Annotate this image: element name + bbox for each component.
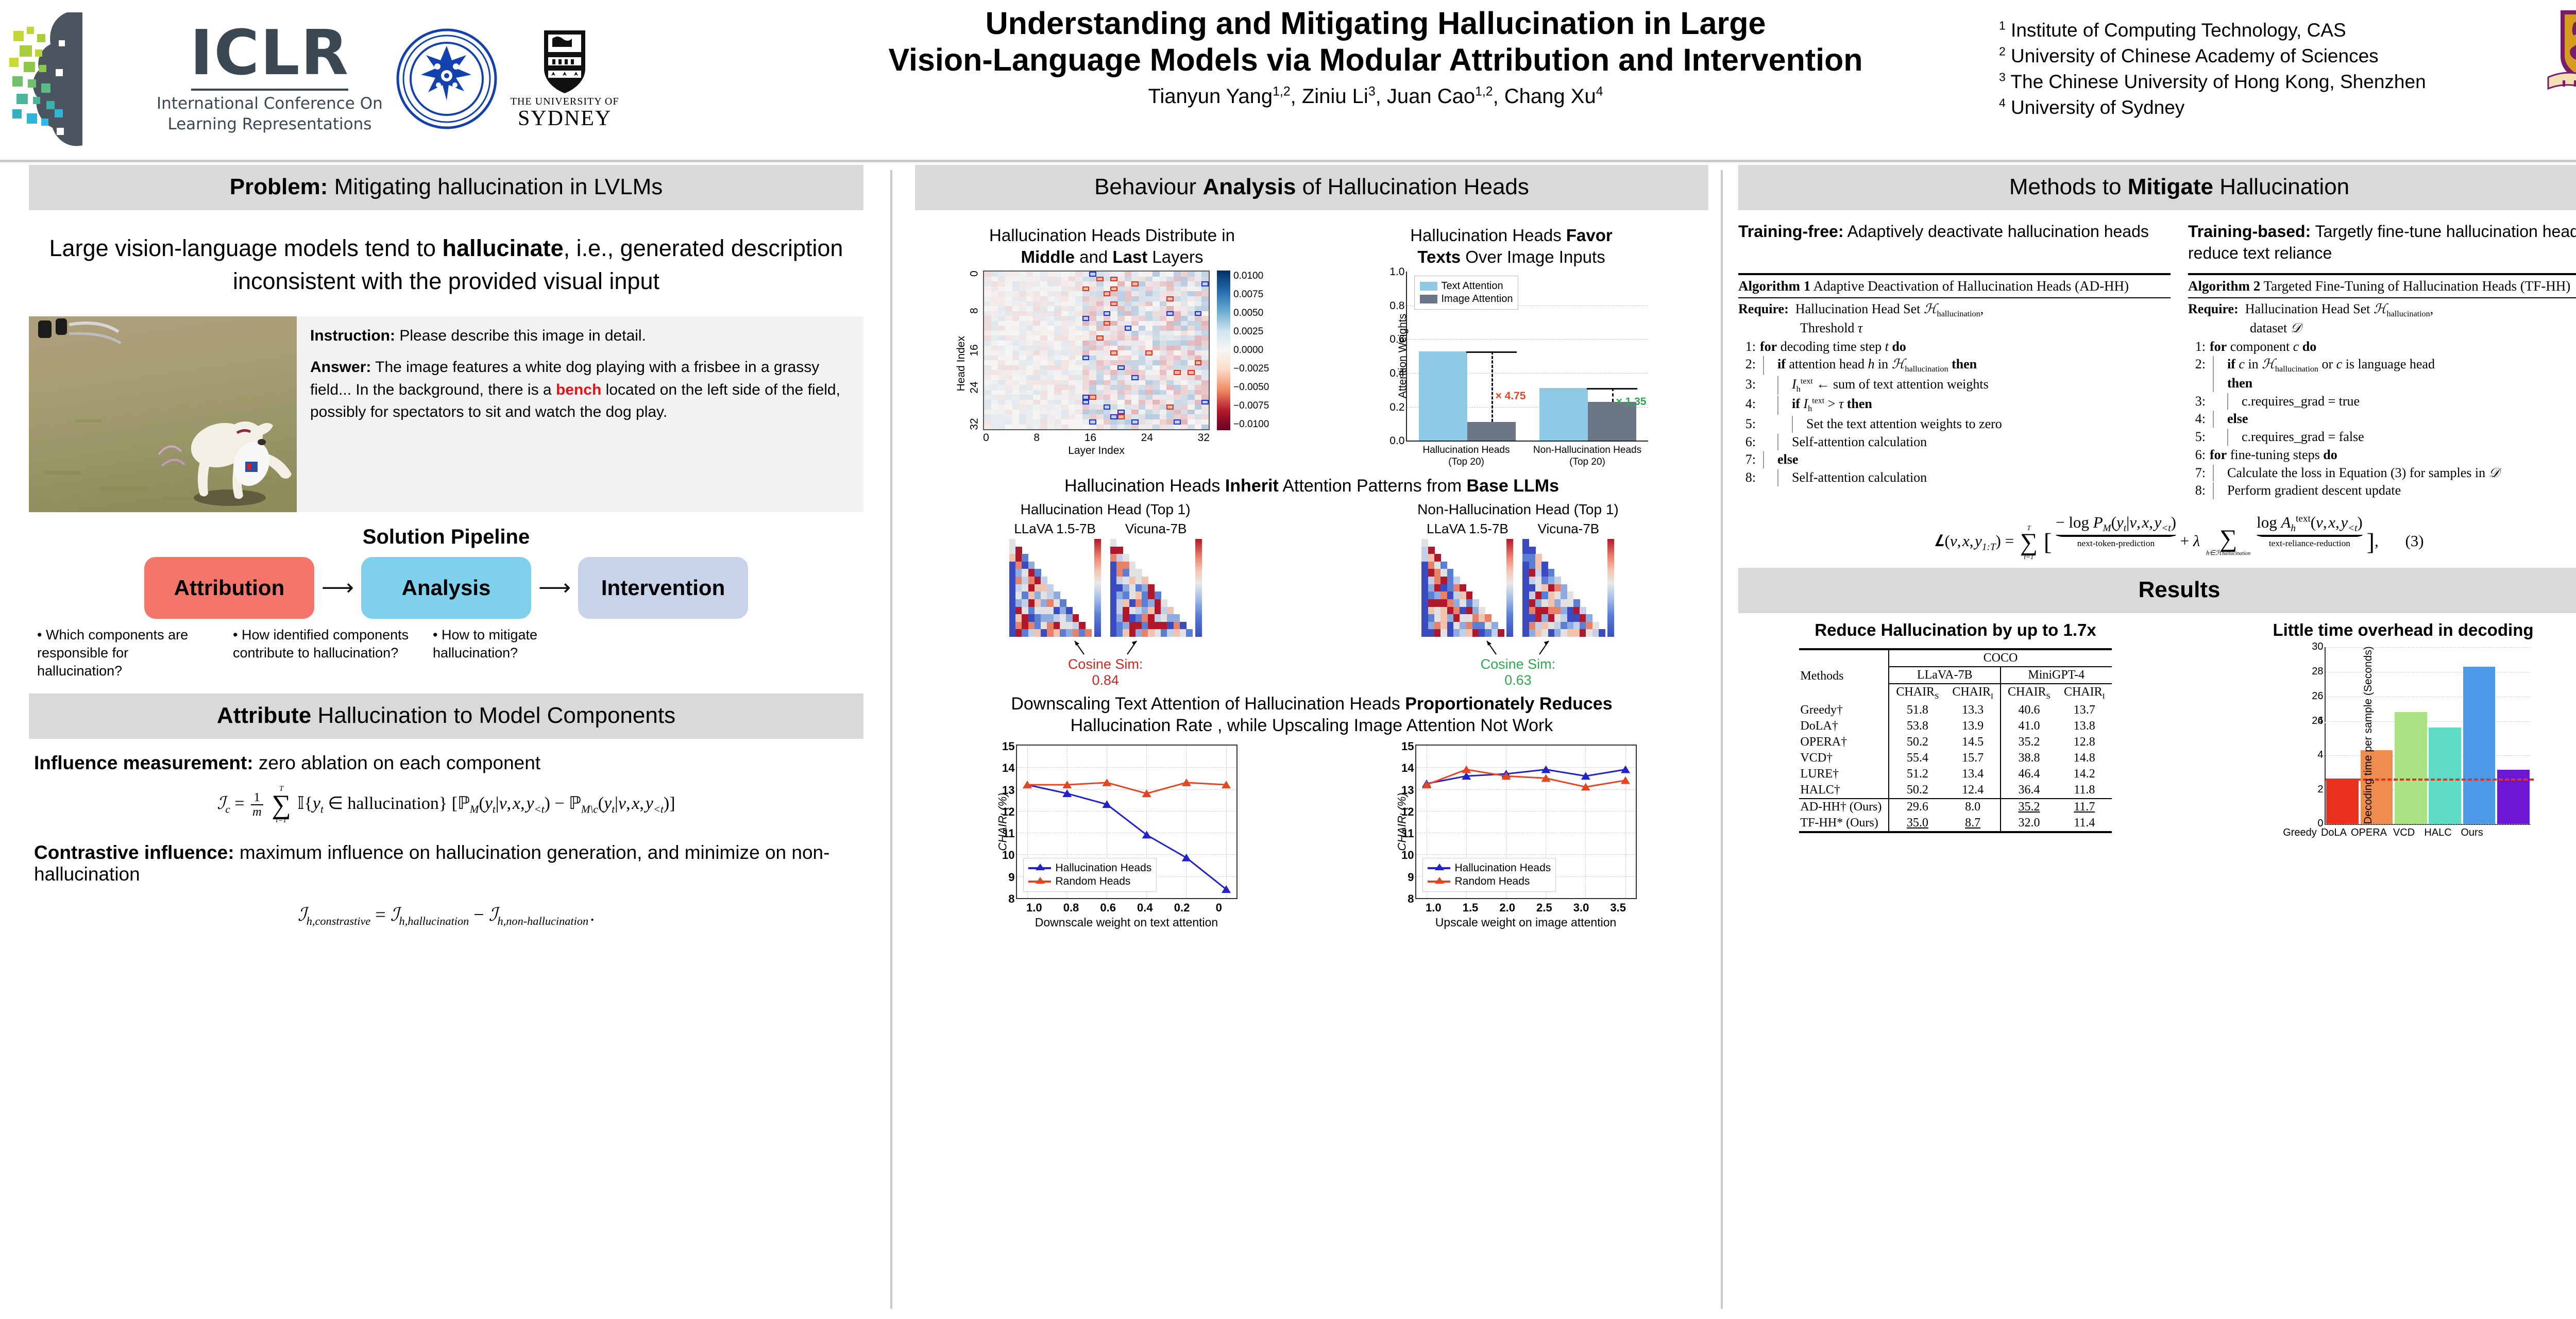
results-col-methods: Methods [1799,649,1889,702]
line-ytick: 15 [1401,740,1414,753]
algo1-line-6: 6:Self-attention calculation [1738,433,2171,451]
algo2-line-7: 7:Calculate the loss in Equation (3) for… [2188,464,2576,482]
ap-model-label-1-1: Vicuna-7B [1522,521,1614,537]
results-cell: 53.8 [1889,718,1945,734]
bar-image-0[interactable] [1467,422,1516,441]
instruction-line: Instruction: Please describe this image … [310,325,853,347]
barchart-legend: Text Attention Image Attention [1414,276,1519,310]
results-row: Reduce Hallucination by up to 1.7x Metho… [1738,620,2576,839]
results-table-block: Reduce Hallucination by up to 1.7x Metho… [1738,620,2173,839]
heatmap-grid[interactable] [983,270,1210,430]
column-divider-1 [890,170,892,1309]
line-ytick: 12 [1401,805,1414,819]
results-cell: 55.4 [1889,750,1945,766]
legend-text-attention: Text Attention [1420,280,1513,292]
upscale-plot[interactable]: CHAIRI (%) 89101112131415 Hallucination … [1415,745,1637,899]
results-cell: 50.2 [1889,782,1945,799]
table-row[interactable]: AD-HH† (Ours)29.68.035.211.7 [1799,799,2111,815]
algo2-head: Algorithm 2 Targeted Fine-Tuning of Hall… [2188,275,2576,297]
downscale-xticks: 1.00.80.60.40.20 [1016,901,1238,915]
iclr-sub-line1: International Conference On [157,94,383,114]
banner-analysis: Behaviour Analysis of Hallucination Head… [915,165,1708,210]
decoding-chart-title: Little time overhead in decoding [2186,620,2576,640]
results-cell: 14.5 [1945,734,2001,750]
heatmap-xtick: 0 [983,432,989,444]
results-cell: 32.0 [2001,815,2057,832]
results-cell: 12.8 [2057,734,2112,750]
colorbar-tick: 0.0000 [1233,345,1269,356]
pipeline-bullet-text-2: How to mitigate hallucination? [433,627,537,661]
results-table[interactable]: Methods COCO LLaVA-7B MiniGPT-4 CHAIRS C… [1799,648,2111,833]
ap-colorbar-1-0 [1506,539,1513,637]
annotation-1: × 1.35 [1616,396,1647,408]
lead-bold: hallucinate [443,235,564,261]
line-xtick: 1.0 [1016,901,1053,915]
barchart-xlabels: Hallucination Heads(Top 20) Non-Hallucin… [1406,445,1648,468]
iclr-wordmark: ICLR International Conference On Learnin… [157,23,383,134]
upscale-legend: Hallucination Heads Random Heads [1422,858,1556,892]
cuhk-shenzhen-logo [2538,7,2576,97]
banner-analysis-c: of Hallucination Heads [1296,174,1529,199]
qa-box: Instruction: Please describe this image … [297,316,863,512]
training-free-lead: Training-free: Adaptively deactivate hal… [1738,221,2171,268]
line-xtick: 3.0 [1563,901,1600,915]
training-free-label: Training-free: [1738,222,1843,241]
ap-model-1-0: LLaVA 1.5-7B [1421,521,1513,637]
algo1-head: Algorithm 1 Adaptive Deactivation of Hal… [1738,275,2171,297]
decoding-bar-0[interactable] [2326,779,2358,824]
brace-label-2: text-reliance-reduction [2257,538,2363,549]
table-row[interactable]: HALC†50.212.436.411.8 [1799,782,2111,799]
contrastive-heading: Contrastive influence: maximum influence… [34,842,863,885]
pipeline-bullet-attribution: • Which components are responsible for h… [32,626,221,680]
ap-triangle-0-0 [1009,539,1092,637]
results-cell: 11.4 [2057,815,2112,832]
ap-colorbar-0-1 [1195,539,1202,637]
pipeline-label-intervention: Intervention [601,576,725,600]
upscale-xlabel: Upscale weight on image attention [1343,916,1708,929]
barchart-ytick: 0.8 [1389,300,1404,312]
line-ytick: 8 [1008,892,1014,906]
line-ytick: 13 [1401,784,1414,797]
author-3: Chang Xu4 [1504,85,1603,108]
iclr-brain-logo [5,8,143,150]
results-cell: 29.6 [1889,799,1945,815]
header-divider [0,160,2576,162]
downscale-legend: Hallucination Heads Random Heads [1023,858,1157,892]
banner-problem: Problem: Mitigating hallucination in LVL… [29,165,863,210]
colorbar-tick: −0.0050 [1233,382,1269,393]
results-cell: 11.7 [2057,799,2112,815]
method-training-free: Training-free: Adaptively deactivate hal… [1738,221,2171,500]
algo1-line-3: 3:Ihtext ← sum of text attention weights [1738,376,2171,396]
line-xtick: 0.6 [1090,901,1127,915]
usyd-line2: SYDNEY [518,108,612,129]
line-xtick: 2.0 [1489,901,1526,915]
author-2: Juan Cao1,2 [1387,85,1493,108]
ap-group-hallucination: Hallucination Head (Top 1) LLaVA 1.5-7B … [915,501,1296,688]
ap-model-label-0-1: Vicuna-7B [1110,521,1202,537]
title-line-2: Vision-Language Models via Modular Attri… [888,42,1862,77]
results-table-title: Reduce Hallucination by up to 1.7x [1738,620,2173,640]
algo1-lines: 1:for decoding time step t do 2:if atten… [1738,338,2171,487]
line-ytick: 14 [1002,762,1014,775]
column-methods: Methods to Mitigate Hallucination Traini… [1738,165,2576,839]
results-cell: 13.7 [2057,702,2112,718]
algo2-name: Targeted Fine-Tuning of Hallucination He… [2260,278,2570,294]
methods-two-col: Training-free: Adaptively deactivate hal… [1738,221,2576,500]
training-free-rest: Adaptively deactivate hallucination head… [1843,222,2148,241]
usyd-logo: THE UNIVERSITY OF SYDNEY [511,28,619,129]
banner-problem-bold: Problem: [230,174,328,199]
decoding-xlabel: VCD [2387,827,2421,839]
cosine-value-0: 0.84 [1092,672,1119,688]
line-xtick: 0.4 [1127,901,1164,915]
iclr-subtitle: International Conference On Learning Rep… [157,94,383,134]
lead-part-a: Large vision-language models tend to [49,235,443,261]
ap-triangle-1-0 [1421,539,1504,637]
colorbar-tick: −0.0100 [1233,419,1269,430]
results-cell: 41.0 [2001,718,2057,734]
algo1-require: Require: Hallucination Head Set ℋhalluci… [1738,298,2171,336]
line-ytick: 12 [1002,805,1014,819]
instruction-text: Please describe this image in detail. [395,327,646,344]
results-metric-1: CHAIRI [1945,684,2001,702]
equation-loss: 𝑳(v, x, y1:T) = T∑t=1 [ − log PM(yt|v, x… [1738,513,2576,561]
results-metric-2: CHAIRS [2001,684,2057,702]
author-list: Tianyun Yang1,2, Ziniu Li3, Juan Cao1,2,… [788,85,1963,108]
pipeline-stage-intervention[interactable]: Intervention [578,557,748,619]
decoding-time-plot[interactable]: Decoding time per sample (Seconds) 02462… [2325,647,2531,825]
algo1-line-7: 7:else [1738,451,2171,469]
results-method: DoLA† [1799,718,1889,734]
algo1-line-8: 8:Self-attention calculation [1738,469,2171,487]
ap-group-head-1: Non-Hallucination Head (Top 1) [1328,501,1708,518]
title-block: Understanding and Mitigating Hallucinati… [788,5,1963,108]
heatmap-plot-area: 08162432 Layer Index [983,270,1210,457]
algo2-number: Algorithm 2 [2188,278,2260,294]
heatmap-xticks: 08162432 [983,432,1210,444]
cosine-sim-0: Cosine Sim: 0.84 [915,639,1296,688]
heatmap-title-middle: Middle [1021,247,1075,266]
poster-header: ICLR International Conference On Learnin… [0,0,2576,164]
title-line-1: Understanding and Mitigating Hallucinati… [986,6,1766,41]
algo2-require: Require: Hallucination Head Set ℋhalluci… [2188,298,2576,336]
algo2-line-6: 6:for fine-tuning steps do [2188,446,2576,464]
results-cell: 35.0 [1889,815,1945,832]
line-ytick: 15 [1002,740,1014,753]
barchart-ytick: 0.4 [1389,367,1404,380]
legend-swatch-image [1420,295,1437,303]
heatmap-yticks: 08162432 [969,270,983,430]
results-cell: 38.8 [2001,750,2057,766]
analysis-top-charts: Hallucination Heads Distribute in Middle… [915,211,1708,468]
decoding-time-block: Little time overhead in decoding Decodin… [2186,620,2576,839]
results-cell: 40.6 [2001,702,2057,718]
banner-methods: Methods to Mitigate Hallucination [1738,165,2576,210]
upscale-legend-hh: Hallucination Heads [1428,862,1551,874]
pipeline-label-analysis: Analysis [402,576,491,600]
contrastive-label: Contrastive influence: [34,842,234,863]
banner-problem-rest: Mitigating hallucination in LVLMs [328,174,663,199]
algo2-lines: 1:for component c do 2:if c in ℋhallucin… [2188,338,2576,500]
ap-triangle-0-1 [1110,539,1193,637]
pipeline-bullet-text-1: How identified components contribute to … [233,627,409,661]
pipeline-stage-attribution[interactable]: Attribution [144,557,314,619]
ap-model-label-1-0: LLaVA 1.5-7B [1421,521,1513,537]
training-based-label: Training-based: [2188,222,2311,241]
banner-analysis-b: Analysis [1202,174,1296,199]
heatmap-xtick: 8 [1033,432,1040,444]
pipeline-arrow-1: ⟶ [321,574,354,601]
decoding-bar-4[interactable] [2463,667,2495,824]
results-method: Greedy† [1799,702,1889,718]
pipeline-bullets: • Which components are responsible for h… [29,626,863,680]
decoding-xlabel: Ours [2455,827,2489,839]
pipeline-bullet-intervention: • How to mitigate hallucination? [428,626,616,680]
pipeline-stage-analysis[interactable]: Analysis [361,557,531,619]
results-method: LURE† [1799,766,1889,782]
algo1-line-4: 4:if Ihtext > τ then [1738,395,2171,415]
iclr-name: ICLR [190,23,350,84]
results-header-dataset: Methods COCO [1799,649,2111,667]
results-dataset-label: COCO [1889,649,2111,667]
barchart-xlabel-1: Non-Hallucination Heads(Top 20) [1527,445,1648,468]
line-ytick: 11 [1402,827,1414,840]
line-xtick: 0.2 [1163,901,1200,915]
results-cell: 8.7 [1945,815,2001,832]
cosine-sim-1: Cosine Sim: 0.63 [1328,639,1708,688]
algo2-line-4: 4:else [2188,410,2576,428]
results-cell: 46.4 [2001,766,2057,782]
line-ytick: 8 [1408,892,1414,906]
downscale-title: Downscaling Text Attention of Hallucinat… [915,694,1708,736]
decoding-ylabel: Decoding time per sample (Seconds) [2362,647,2374,825]
line-ytick: 10 [1002,849,1014,862]
author-1: Ziniu Li3 [1302,85,1376,108]
influence-rest: zero ablation on each component [253,752,540,773]
attention-bar-chart: Hallucination Heads Favor Texts Over Ima… [1314,211,1708,468]
example-row: Instruction: Please describe this image … [29,316,863,512]
algo1-name: Adaptive Deactivation of Hallucination H… [1810,278,2129,294]
line-xtick: 1.0 [1415,901,1452,915]
barchart-plot[interactable]: × 4.75× 1.35 Attention Weights 0.00.20.4… [1406,272,1648,442]
colorbar-tick: 0.0100 [1233,270,1269,282]
results-cell: 12.4 [1945,782,2001,799]
banner-attribute-bold: Attribute [217,703,311,728]
ap-model-1-1: Vicuna-7B [1522,521,1614,637]
heatmap-colorbar-labels: 0.01000.00750.00500.00250.0000−0.0025−0.… [1233,270,1269,430]
decoding-ytick: 4 [2302,749,2324,761]
results-cell: 51.8 [1889,702,1945,718]
legend-image-attention: Image Attention [1420,293,1513,305]
line-ytick: 10 [1401,849,1414,862]
heatmap-title-l1: Hallucination Heads Distribute in [989,226,1235,245]
column-problem: Problem: Mitigating hallucination in LVL… [29,165,863,928]
equation-influence: ℐc = 1m T∑t=1 𝕀{yt ∈ hallucination} [ℙM(… [29,785,863,824]
heatmap-ytick: 8 [968,308,980,319]
cosine-label-1: Cosine Sim: [1481,656,1556,672]
algo1-number: Algorithm 1 [1738,278,1810,294]
banner-attribute-rest: Hallucination to Model Components [311,703,675,728]
banner-results-text: Results [2139,577,2221,602]
equation-number: (3) [2405,532,2424,550]
decoding-ytick: 26 [2302,690,2324,702]
algorithm-1: Algorithm 1 Adaptive Deactivation of Hal… [1738,273,2171,487]
barchart-yticks: 0.00.20.40.60.81.0 [1380,266,1405,442]
upscale-yticks: 89101112131415 [1394,739,1414,904]
downscale-plot[interactable]: CHAIRI (%) 89101112131415 Hallucination … [1016,745,1238,899]
decoding-ytick: 2 [2302,784,2324,796]
table-row[interactable]: DoLA†53.813.941.013.8 [1799,718,2111,734]
training-based-lead: Training-based: Targetly fine-tune hallu… [2188,221,2576,268]
results-cell: 13.3 [1945,702,2001,718]
results-cell: 8.0 [1945,799,2001,815]
results-cell: 15.7 [1945,750,2001,766]
method-training-based: Training-based: Targetly fine-tune hallu… [2188,221,2576,500]
linechart-row: CHAIRI (%) 89101112131415 Hallucination … [915,742,1708,929]
influence-heading: Influence measurement: zero ablation on … [34,752,863,774]
pipeline-diagram: Attribution ⟶ Analysis ⟶ Intervention [29,557,863,619]
heatmap-xtick: 32 [1198,432,1210,444]
heatmap-xtick: 24 [1141,432,1153,444]
results-method: HALC† [1799,782,1889,799]
affiliation-2: 2 University of Chinese Academy of Scien… [1999,43,2426,69]
hallucinated-word: bench [556,381,601,398]
banner-results: Results [1738,568,2576,613]
author-0: Tianyun Yang1,2 [1148,85,1290,108]
downscale-xlabel: Downscale weight on text attention [944,916,1309,929]
table-row[interactable]: TF-HH* (Ours)35.08.732.011.4 [1799,815,2111,832]
column-divider-2 [1721,170,1723,1309]
ap-group-non-hallucination: Non-Hallucination Head (Top 1) LLaVA 1.5… [1328,501,1708,688]
results-method: TF-HH* (Ours) [1799,815,1889,832]
heatmap-title: Hallucination Heads Distribute in Middle… [915,225,1309,267]
line-ytick: 13 [1002,784,1014,797]
ap-pair-0: LLaVA 1.5-7B Vicuna-7B [915,521,1296,637]
downscale-linechart: CHAIRI (%) 89101112131415 Hallucination … [915,742,1309,929]
colorbar-tick: −0.0075 [1233,400,1269,412]
results-cell: 51.2 [1889,766,1945,782]
heatmap-ylabel: Head Index [955,336,968,391]
table-row[interactable]: OPERA†50.214.535.212.8 [1799,734,2111,750]
results-body: Greedy†51.813.340.613.7DoLA†53.813.941.0… [1799,702,2111,832]
attention-pattern-row: Hallucination Head (Top 1) LLaVA 1.5-7B … [915,501,1708,688]
algo2-line-1: 1:for component c do [2188,338,2576,356]
heatmap-xtick: 16 [1084,432,1096,444]
results-cell: 14.8 [2057,750,2112,766]
pipeline-bullet-text-0: Which components are responsible for hal… [37,627,188,679]
line-ytick: 9 [1408,871,1414,884]
ap-colorbar-0-0 [1094,539,1101,637]
ap-group-head-0: Hallucination Head (Top 1) [915,501,1296,518]
ap-model-label-0-0: LLaVA 1.5-7B [1009,521,1101,537]
heatmap-colorbar [1217,270,1230,430]
instruction-label: Instruction: [310,327,395,344]
results-cell: 35.2 [2001,799,2057,815]
barchart-ytick: 0.2 [1389,401,1404,414]
ap-model-0-1: Vicuna-7B [1110,521,1202,637]
results-cell: 13.4 [1945,766,2001,782]
colorbar-tick: 0.0025 [1233,326,1269,337]
results-metric-3: CHAIRI [2057,684,2112,702]
line-ytick: 11 [1003,827,1014,840]
equation-contrastive: ℐh,constrastive = ℐh,hallucination − ℐh,… [29,904,863,928]
ap-colorbar-1-1 [1607,539,1614,637]
iclr-sub-line2: Learning Representations [157,114,383,135]
upscale-linechart: CHAIRI (%) 89101112131415 Hallucination … [1314,742,1708,929]
barchart-title: Hallucination Heads Favor Texts Over Ima… [1314,225,1708,267]
solution-pipeline-title: Solution Pipeline [29,526,863,549]
line-ytick: 9 [1008,871,1014,884]
decoding-xlabel: HALC [2421,827,2455,839]
decoding-ytick: 24 [2302,715,2324,727]
decoding-ytick: 28 [2302,666,2324,678]
upscale-xticks: 1.01.52.02.53.03.5 [1415,901,1637,915]
results-cell: 35.2 [2001,734,2057,750]
cas-logo [396,28,497,129]
answer-label: Answer: [310,359,371,376]
decoding-bar-3[interactable] [2429,728,2461,824]
line-ytick: 14 [1401,762,1414,775]
ap-pair-1: LLaVA 1.5-7B Vicuna-7B [1328,521,1708,637]
barchart-ytick: 1.0 [1389,266,1404,278]
decoding-xlabel: OPERA [2351,827,2387,839]
heatmap-ytick: 0 [968,270,980,282]
line-xtick: 0.8 [1053,901,1090,915]
upscale-legend-rh: Random Heads [1428,875,1551,888]
results-cell: 13.9 [1945,718,2001,734]
downscale-legend-rh: Random Heads [1028,875,1152,888]
affiliations: 1 Institute of Computing Technology, CAS… [1999,18,2426,121]
table-row[interactable]: Greedy†51.813.340.613.7 [1799,702,2111,718]
algorithm-2: Algorithm 2 Targeted Fine-Tuning of Hall… [2188,273,2576,500]
answer-line: Answer: The image features a white dog p… [310,356,853,424]
cosine-label-0: Cosine Sim: [1068,656,1143,672]
affiliation-3: 3 The Chinese University of Hong Kong, S… [1999,69,2426,95]
downscale-yticks: 89101112131415 [994,739,1015,904]
column-analysis: Behaviour Analysis of Hallucination Head… [915,165,1708,929]
decoding-bar-2[interactable] [2395,712,2427,824]
line-xtick: 2.5 [1526,901,1563,915]
table-row[interactable]: LURE†51.213.446.414.2 [1799,766,2111,782]
table-row[interactable]: VCD†55.415.738.814.8 [1799,750,2111,766]
barchart-ytick: 0.6 [1389,333,1404,346]
bar-text-1[interactable] [1539,388,1588,441]
barchart-xlabel-0: Hallucination Heads(Top 20) [1406,445,1527,468]
heatmap-ytick: 24 [968,381,980,393]
banner-attribute: Attribute Hallucination to Model Compone… [29,694,863,739]
heatmap-ytick: 16 [968,344,980,356]
colorbar-tick: 0.0075 [1233,289,1269,300]
colorbar-tick: 0.0050 [1233,308,1269,319]
usyd-line1: THE UNIVERSITY OF [511,96,619,108]
heatmap-xlabel: Layer Index [983,445,1210,457]
algo2-line-8: 8:Perform gradient descent update [2188,482,2576,500]
heatmap-ytick: 32 [968,418,980,430]
results-cell: 11.8 [2057,782,2112,799]
cosine-value-1: 0.63 [1504,672,1532,688]
algo2-line-2: 2:if c in ℋhallucination or c is languag… [2188,356,2576,392]
results-cell: 36.4 [2001,782,2057,799]
ap-triangle-1-1 [1522,539,1605,637]
dog-frisbee-photo [29,316,297,512]
problem-lead: Large vision-language models tend to hal… [36,232,856,298]
decoding-ytick: 0 [2302,818,2324,830]
line-xtick: 0 [1200,901,1238,915]
line-xtick: 3.5 [1600,901,1637,915]
bar-text-0[interactable] [1419,351,1467,441]
